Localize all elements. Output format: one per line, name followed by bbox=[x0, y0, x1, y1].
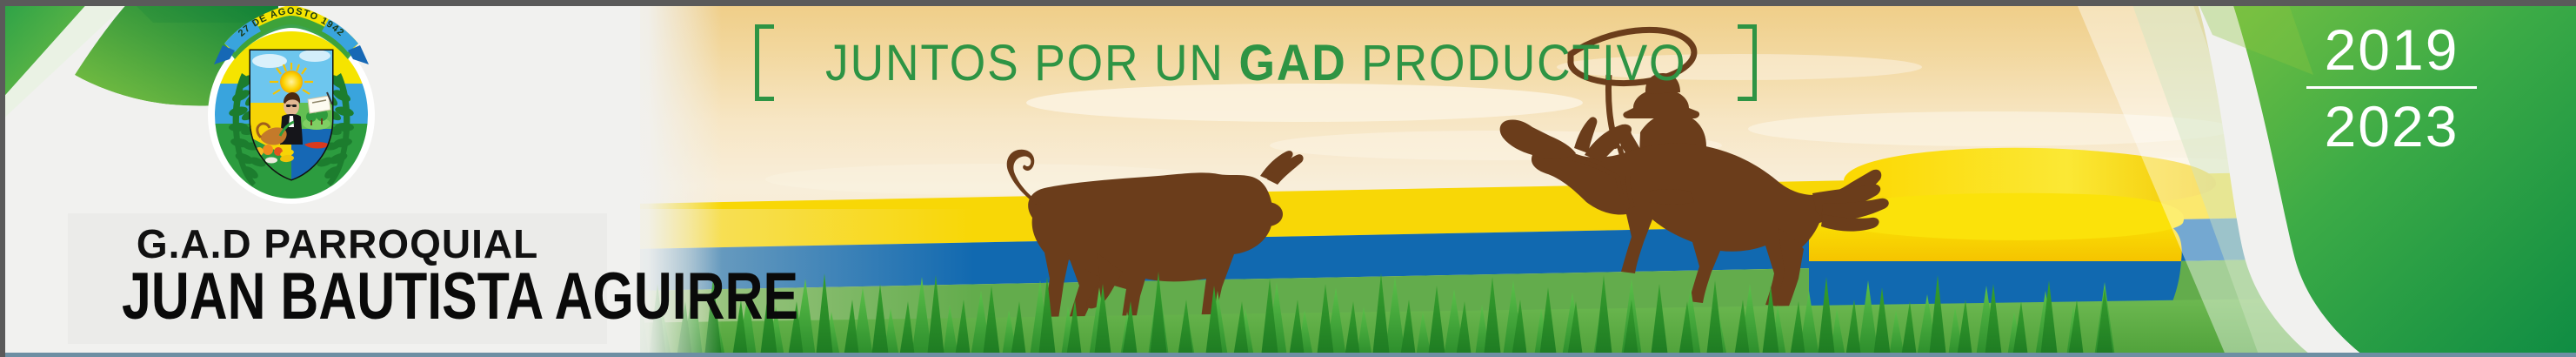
coat-of-arms-crest: 27 DE AGOSTO 1942 bbox=[200, 5, 383, 205]
slogan-highlight: GAD bbox=[1238, 35, 1346, 91]
term-year-divider bbox=[2306, 86, 2477, 89]
slogan: JUNTOS POR UN GAD PRODUCTIVO bbox=[755, 21, 1757, 104]
term-end-year: 2023 bbox=[2261, 96, 2522, 158]
term-start-year: 2019 bbox=[2261, 19, 2522, 81]
bracket-open-icon bbox=[755, 24, 774, 101]
gad-parroquial-banner: JUNTOS POR UN GAD PRODUCTIVO bbox=[0, 0, 2576, 357]
slogan-part-one: JUNTOS POR UN bbox=[825, 35, 1238, 91]
window-bottom-bar bbox=[0, 353, 2576, 357]
term-years: 2019 2023 bbox=[2261, 19, 2522, 158]
window-left-bar bbox=[0, 0, 5, 357]
slogan-part-two: PRODUCTIVO bbox=[1347, 35, 1687, 91]
bracket-close-icon bbox=[1738, 24, 1757, 101]
org-name-label: JUAN BAUTISTA AGUIRRE bbox=[122, 264, 553, 330]
window-top-bar bbox=[0, 0, 2576, 6]
nameplate: G.A.D PARROQUIAL JUAN BAUTISTA AGUIRRE bbox=[68, 213, 607, 344]
slogan-text: JUNTOS POR UN GAD PRODUCTIVO bbox=[812, 34, 1699, 92]
